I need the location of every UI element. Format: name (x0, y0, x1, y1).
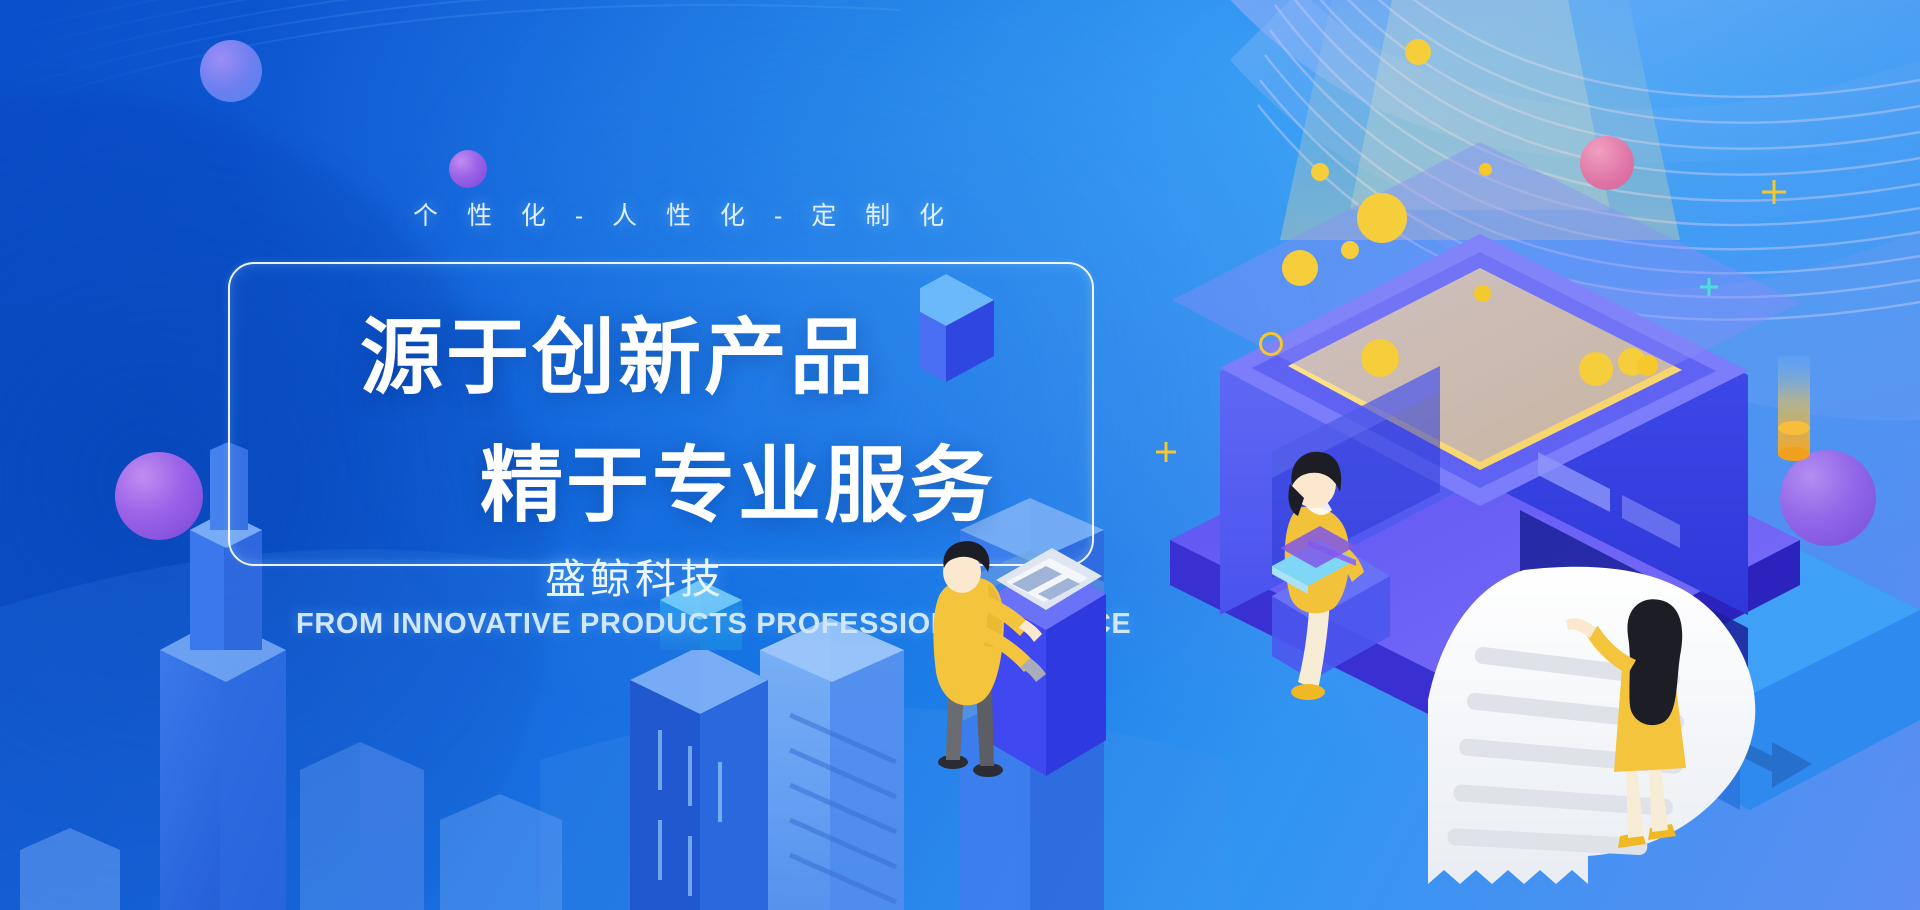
kiosk-terminal-group (933, 541, 1106, 777)
company-name: 盛鲸科技 (545, 545, 725, 605)
printed-paper-stream (1428, 567, 1755, 884)
banner-tagline: 个 性 化 - 人 性 化 - 定 制 化 (413, 196, 955, 232)
isometric-illustration (920, 0, 1920, 910)
headline-line-2: 精于专业服务 (480, 418, 996, 538)
headline-line-1: 源于创新产品 (360, 290, 876, 410)
floating-isometric-cube (920, 274, 994, 382)
hero-banner: 个 性 化 - 人 性 化 - 定 制 化 源于创新产品 精于专业服务 盛鲸科技… (0, 0, 1920, 910)
